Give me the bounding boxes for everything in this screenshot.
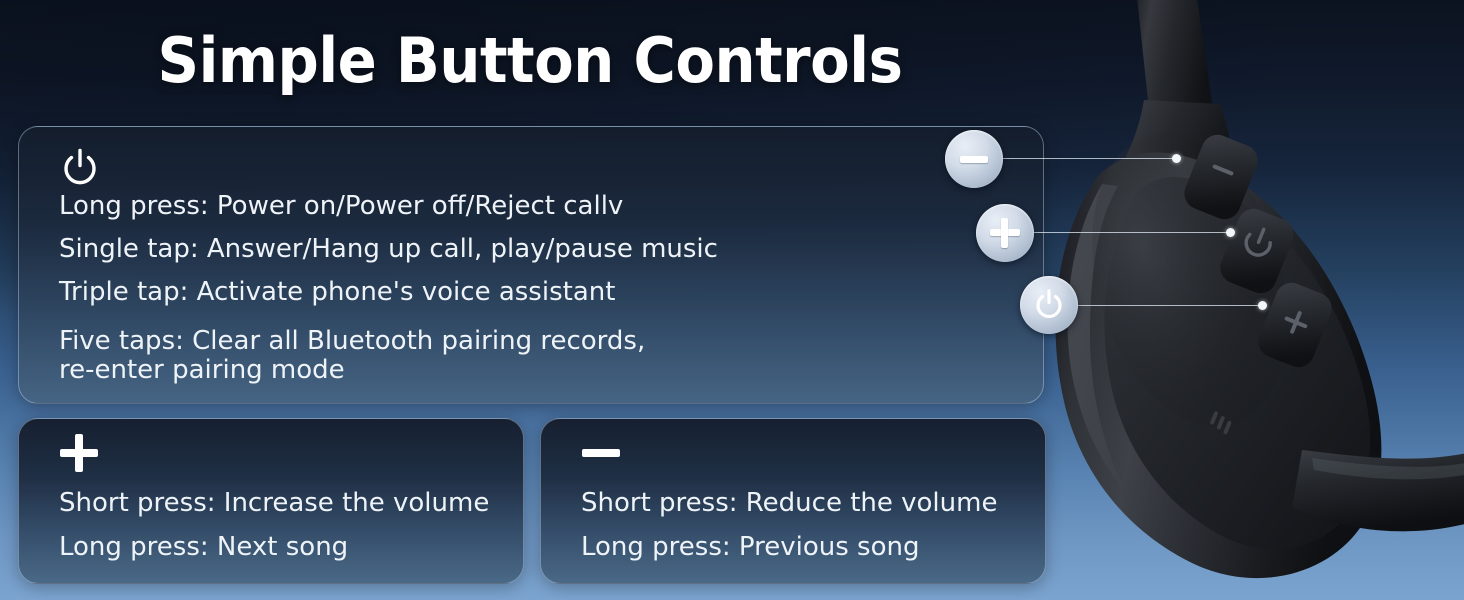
power-line-4: Five taps: Clear all Bluetooth pairing r… (59, 314, 718, 356)
product-photo (1040, 0, 1464, 600)
leader-line-power (1075, 305, 1262, 306)
callout-badge-volume-down[interactable] (945, 130, 1003, 188)
power-controls-card: Long press: Power on/Power off/Reject ca… (18, 126, 1044, 404)
callout-badge-volume-up[interactable] (976, 204, 1034, 262)
page-title: Simple Button Controls (37, 24, 1023, 98)
volume-down-card: Short press: Reduce the volume Long pres… (540, 418, 1046, 584)
power-line-1: Long press: Power on/Power off/Reject ca… (59, 185, 718, 228)
leader-dot-volume-down (1172, 154, 1181, 163)
power-icon (59, 147, 101, 189)
volume-down-card-lines: Short press: Reduce the volume Long pres… (581, 481, 997, 569)
leader-line-volume-down (1000, 158, 1176, 159)
volume-up-line-1: Short press: Increase the volume (59, 481, 489, 525)
leader-dot-power (1258, 301, 1267, 310)
volume-up-card-lines: Short press: Increase the volume Long pr… (59, 481, 489, 569)
power-line-2: Single tap: Answer/Hang up call, play/pa… (59, 228, 718, 271)
minus-icon (581, 433, 621, 473)
volume-down-line-2: Long press: Previous song (581, 525, 997, 569)
power-line-5: re-enter pairing mode (59, 356, 718, 385)
callout-badge-power[interactable] (1020, 276, 1078, 334)
plus-icon (59, 433, 99, 473)
power-icon (1032, 288, 1066, 322)
volume-down-line-1: Short press: Reduce the volume (581, 481, 997, 525)
power-card-lines: Long press: Power on/Power off/Reject ca… (59, 185, 718, 385)
infographic-canvas: Simple Button Controls Long press: Power… (0, 0, 1464, 600)
volume-up-line-2: Long press: Next song (59, 525, 489, 569)
volume-up-card: Short press: Increase the volume Long pr… (18, 418, 524, 584)
plus-icon (989, 217, 1021, 249)
power-line-3: Triple tap: Activate phone's voice assis… (59, 271, 718, 314)
leader-dot-volume-up (1226, 228, 1235, 237)
minus-icon (959, 144, 989, 174)
leader-line-volume-up (1031, 232, 1230, 233)
